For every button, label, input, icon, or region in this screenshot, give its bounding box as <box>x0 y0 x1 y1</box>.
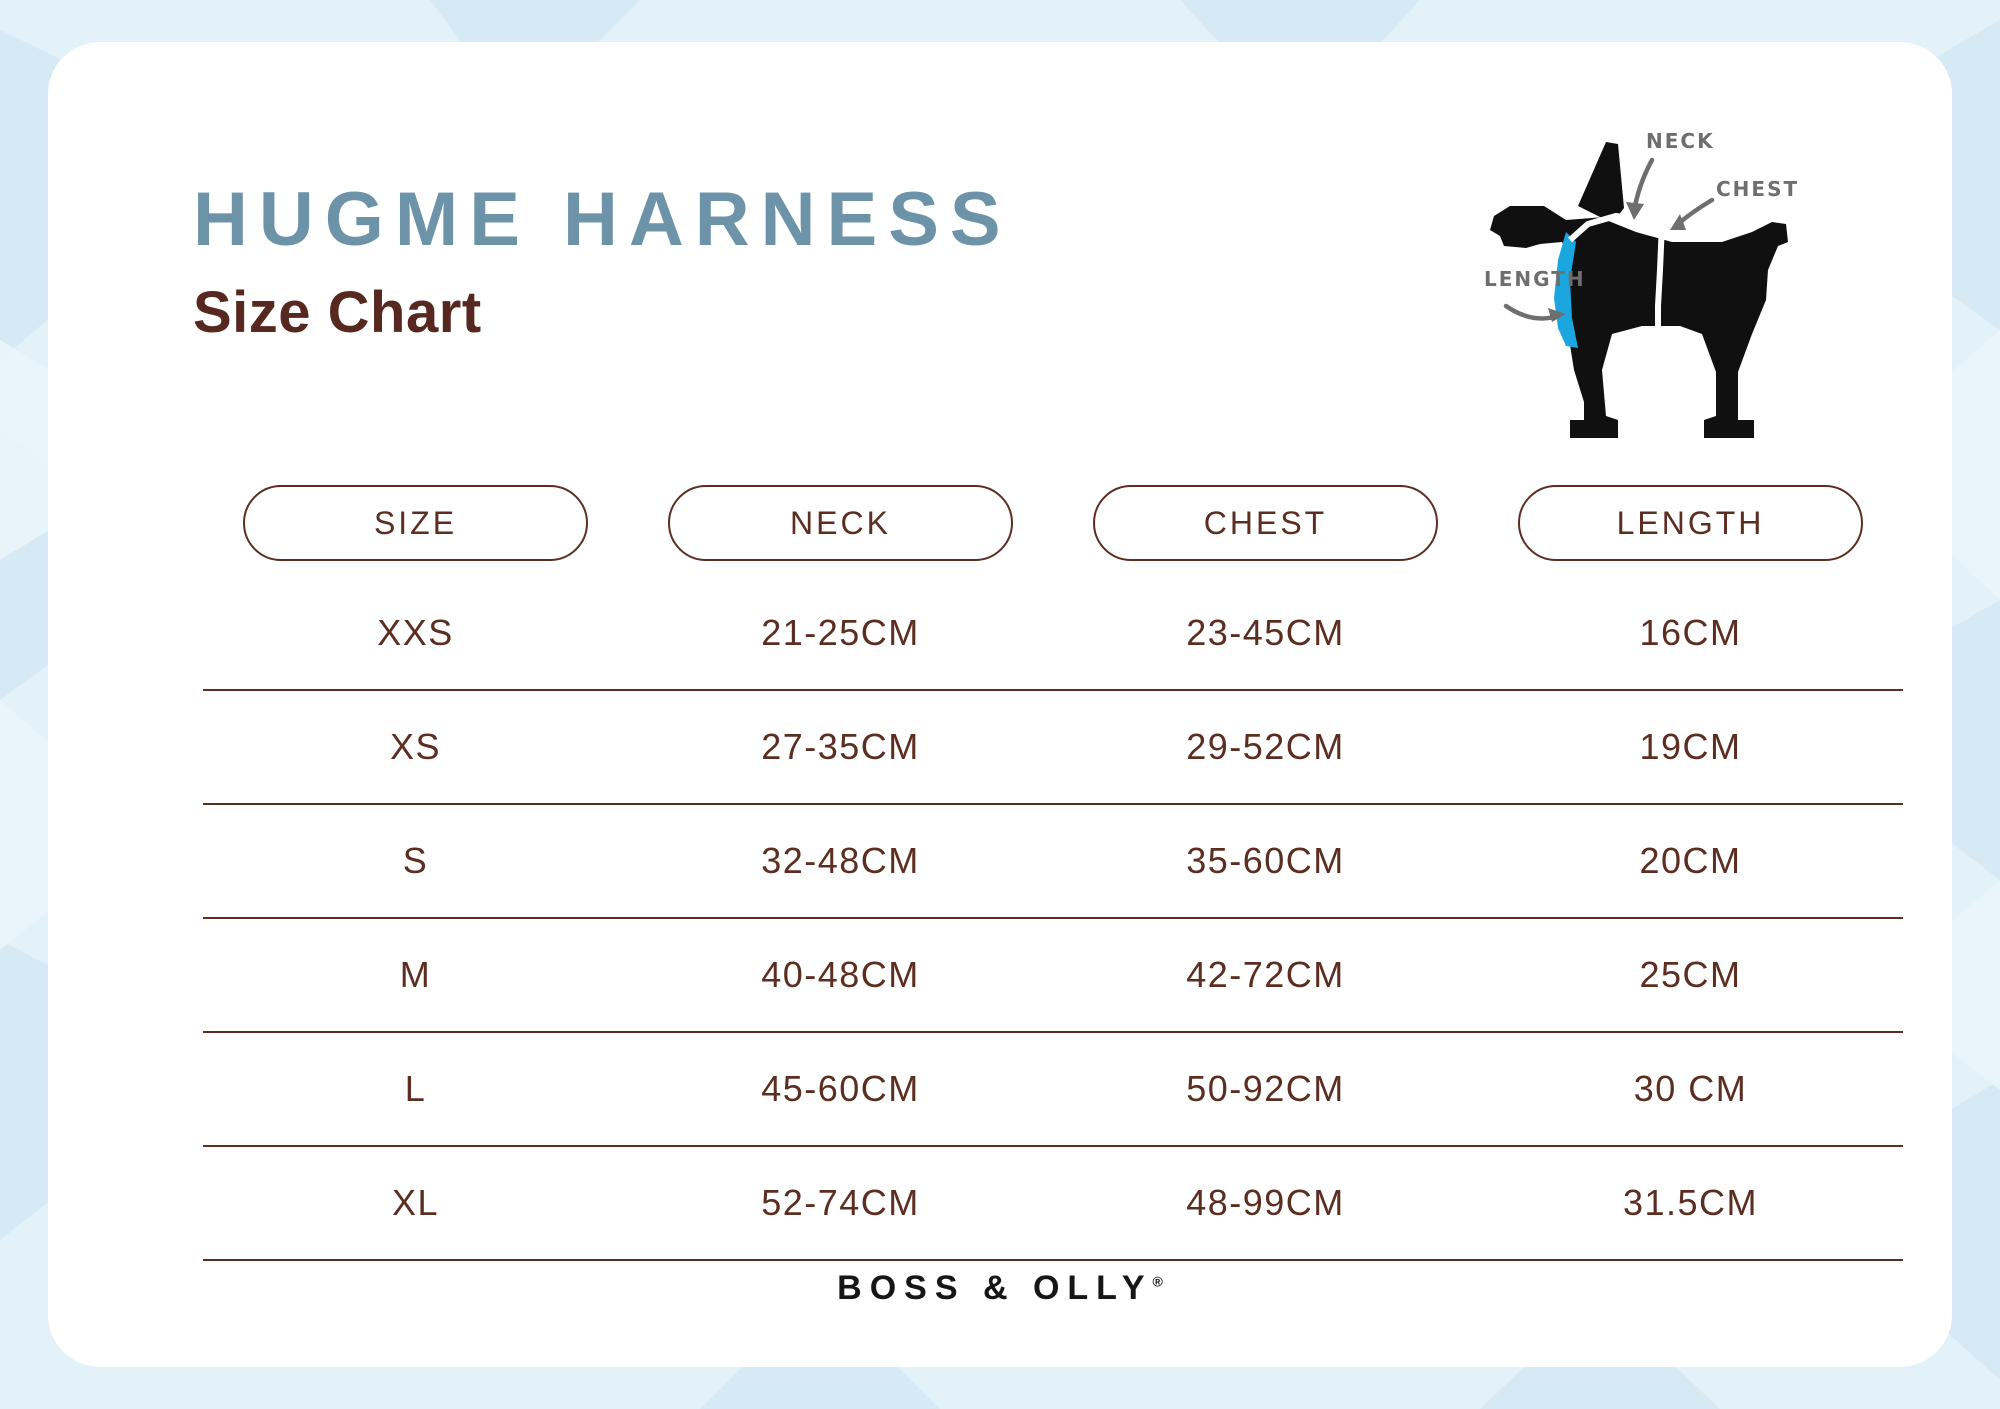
cell-neck: 21-25CM <box>628 612 1053 654</box>
cell-length: 19CM <box>1478 726 1903 768</box>
header-pill-chest: CHEST <box>1093 485 1438 561</box>
table-header-cell-chest: CHEST <box>1053 485 1478 561</box>
table-row: S 32-48CM 35-60CM 20CM <box>203 805 1903 919</box>
cell-neck: 52-74CM <box>628 1182 1053 1224</box>
size-chart-card: HUGME HARNESS Size Chart NECK CHEST <box>48 42 1952 1367</box>
cell-length: 25CM <box>1478 954 1903 996</box>
chest-arrow-icon <box>1678 200 1712 224</box>
cell-chest: 50-92CM <box>1053 1068 1478 1110</box>
chest-label: CHEST <box>1716 177 1799 201</box>
size-table: SIZE NECK CHEST LENGTH XXS 21-25CM 23-45… <box>203 485 1903 1261</box>
dog-measurement-diagram: NECK CHEST LENGTH <box>1466 120 1906 450</box>
cell-size: M <box>203 954 628 996</box>
cell-length: 31.5CM <box>1478 1182 1903 1224</box>
cell-size: L <box>203 1068 628 1110</box>
brand-name: BOSS & OLLY <box>837 1269 1152 1307</box>
cell-neck: 27-35CM <box>628 726 1053 768</box>
table-header-row: SIZE NECK CHEST LENGTH <box>203 485 1903 561</box>
cell-chest: 35-60CM <box>1053 840 1478 882</box>
table-row: XS 27-35CM 29-52CM 19CM <box>203 691 1903 805</box>
cell-length: 16CM <box>1478 612 1903 654</box>
brand-logo: BOSS & OLLY® <box>48 1269 1952 1308</box>
header-pill-neck: NECK <box>668 485 1013 561</box>
chest-label-group: CHEST <box>1670 177 1799 230</box>
cell-size: XL <box>203 1182 628 1224</box>
neck-label: NECK <box>1646 129 1715 153</box>
cell-chest: 48-99CM <box>1053 1182 1478 1224</box>
table-row: M 40-48CM 42-72CM 25CM <box>203 919 1903 1033</box>
table-header-cell-size: SIZE <box>203 485 628 561</box>
cell-size: XS <box>203 726 628 768</box>
table-row: XXS 21-25CM 23-45CM 16CM <box>203 577 1903 691</box>
header-pill-size: SIZE <box>243 485 588 561</box>
cell-neck: 40-48CM <box>628 954 1053 996</box>
cell-length: 20CM <box>1478 840 1903 882</box>
heading-block: HUGME HARNESS Size Chart <box>193 182 1012 342</box>
registered-trademark-icon: ® <box>1153 1274 1163 1290</box>
cell-chest: 42-72CM <box>1053 954 1478 996</box>
table-header-cell-length: LENGTH <box>1478 485 1903 561</box>
table-row: L 45-60CM 50-92CM 30 CM <box>203 1033 1903 1147</box>
page-subtitle: Size Chart <box>193 284 1012 342</box>
cell-neck: 32-48CM <box>628 840 1053 882</box>
cell-chest: 23-45CM <box>1053 612 1478 654</box>
page-title: HUGME HARNESS <box>193 182 1012 258</box>
table-row: XL 52-74CM 48-99CM 31.5CM <box>203 1147 1903 1261</box>
length-label: LENGTH <box>1484 267 1586 291</box>
cell-size: XXS <box>203 612 628 654</box>
cell-length: 30 CM <box>1478 1068 1903 1110</box>
cell-size: S <box>203 840 628 882</box>
cell-neck: 45-60CM <box>628 1068 1053 1110</box>
table-header-cell-neck: NECK <box>628 485 1053 561</box>
cell-chest: 29-52CM <box>1053 726 1478 768</box>
header-pill-length: LENGTH <box>1518 485 1863 561</box>
